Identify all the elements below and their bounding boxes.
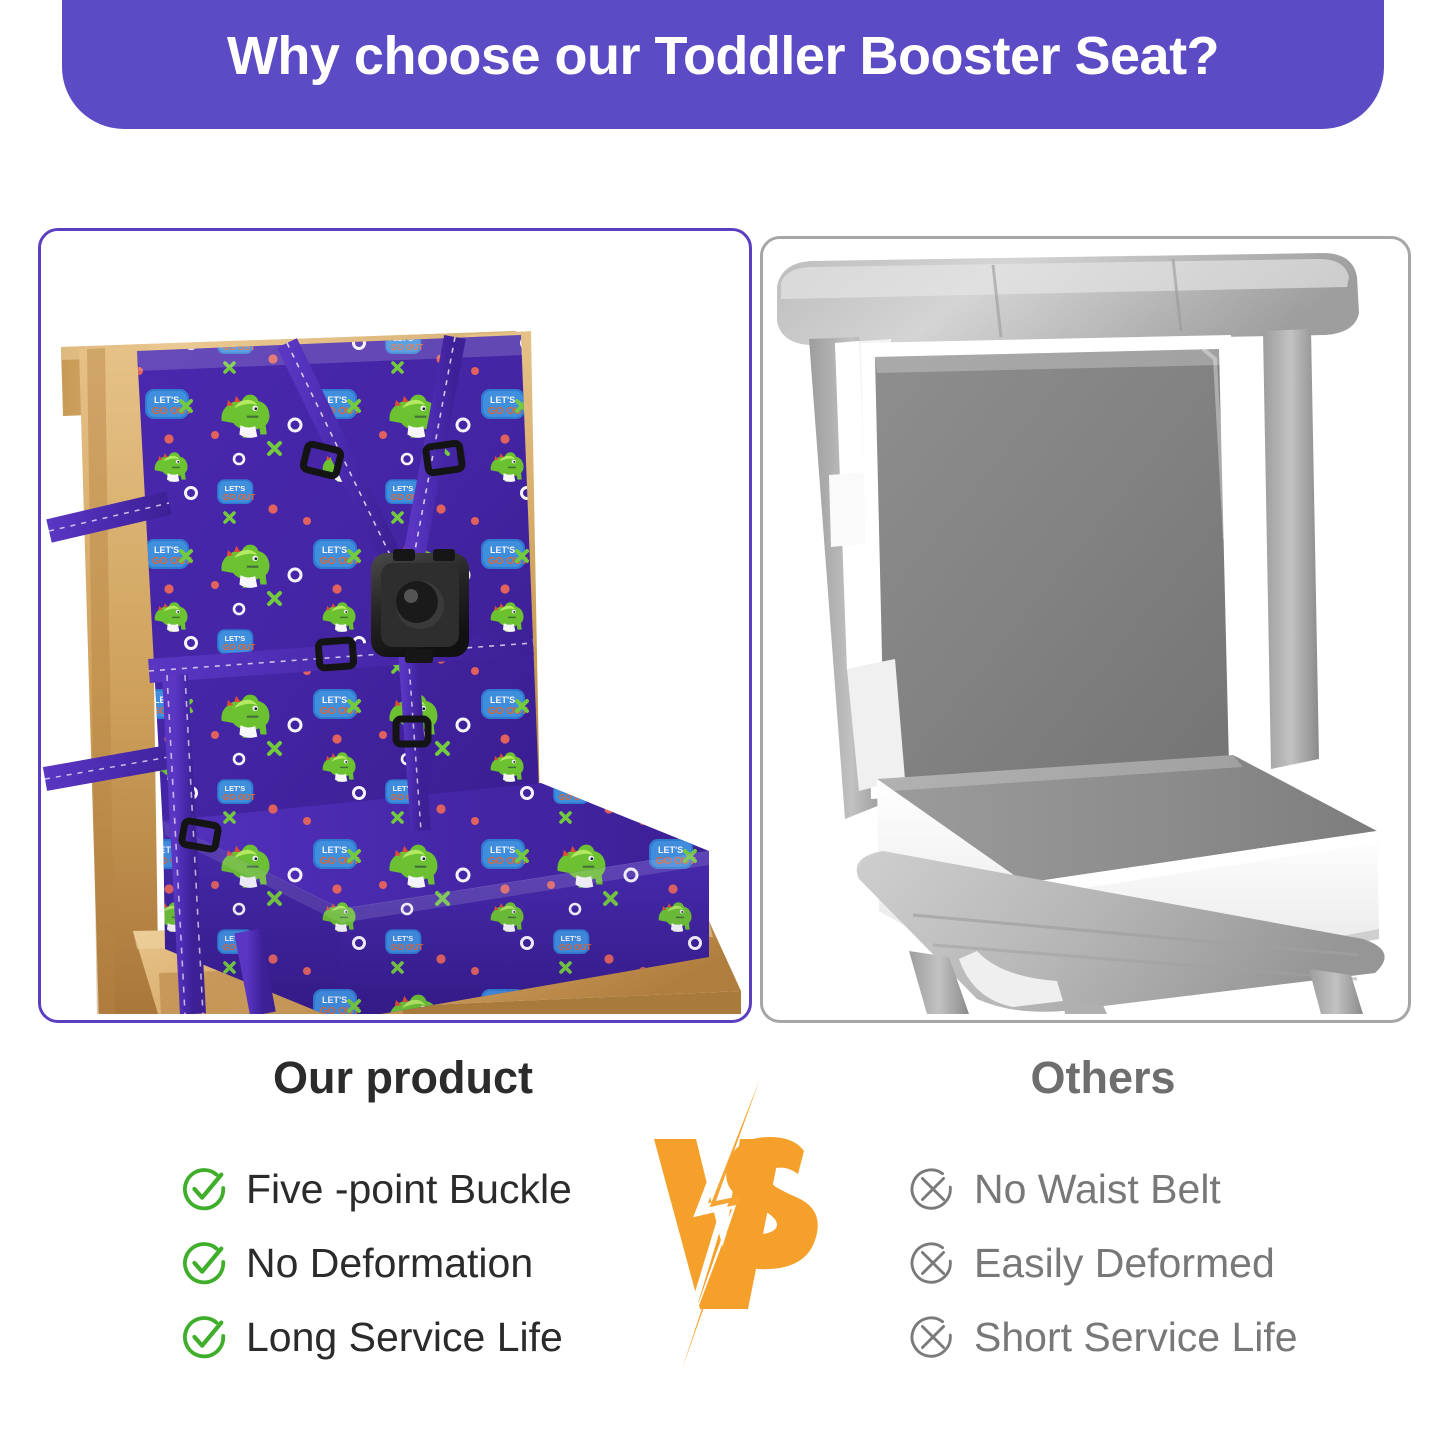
feature-label: Long Service Life [246, 1317, 563, 1358]
header-banner: Why choose our Toddler Booster Seat? [62, 0, 1384, 129]
booster-backrest [137, 335, 539, 844]
others-feature-list: No Waist Belt Easily Deformed Short Serv… [840, 1152, 1360, 1374]
cross-circle-icon [910, 1166, 956, 1212]
infographic-page: Why choose our Toddler Booster Seat? [0, 0, 1445, 1445]
our-product-illustration: LET'S GO OUT [41, 231, 743, 1014]
check-circle-icon [182, 1166, 228, 1212]
feature-label: No Waist Belt [974, 1169, 1221, 1210]
feature-label: Short Service Life [974, 1317, 1298, 1358]
our-product-column: Our product Five -point Buckle No Deform… [118, 1055, 678, 1374]
list-item: No Deformation [182, 1226, 678, 1300]
feature-label: Easily Deformed [974, 1243, 1275, 1284]
versus-lightning-icon [636, 1077, 836, 1377]
comparison-section: Our product Five -point Buckle No Deform… [0, 1055, 1445, 1445]
feature-label: No Deformation [246, 1243, 533, 1284]
our-product-image-panel: LET'S GO OUT [38, 228, 752, 1023]
others-heading: Others [840, 1055, 1360, 1100]
our-product-feature-list: Five -point Buckle No Deformation Long S… [118, 1152, 678, 1374]
list-item: Easily Deformed [910, 1226, 1360, 1300]
feature-label: Five -point Buckle [246, 1169, 572, 1210]
our-product-heading: Our product [118, 1055, 678, 1100]
page-title: Why choose our Toddler Booster Seat? [227, 29, 1219, 129]
list-item: Five -point Buckle [182, 1152, 678, 1226]
list-item: No Waist Belt [910, 1152, 1360, 1226]
list-item: Long Service Life [182, 1300, 678, 1374]
gray-backrest-cushion [861, 335, 1241, 799]
others-product-image-panel [760, 236, 1411, 1023]
list-item: Short Service Life [910, 1300, 1360, 1374]
gray-chair-right-post [1263, 329, 1319, 769]
check-circle-icon [182, 1240, 228, 1286]
cross-circle-icon [910, 1314, 956, 1360]
others-product-illustration [763, 239, 1402, 1014]
five-point-buckle [371, 549, 469, 663]
others-column: Others No Waist Belt Easily Deformed [840, 1055, 1360, 1374]
check-circle-icon [182, 1314, 228, 1360]
cross-circle-icon [910, 1240, 956, 1286]
